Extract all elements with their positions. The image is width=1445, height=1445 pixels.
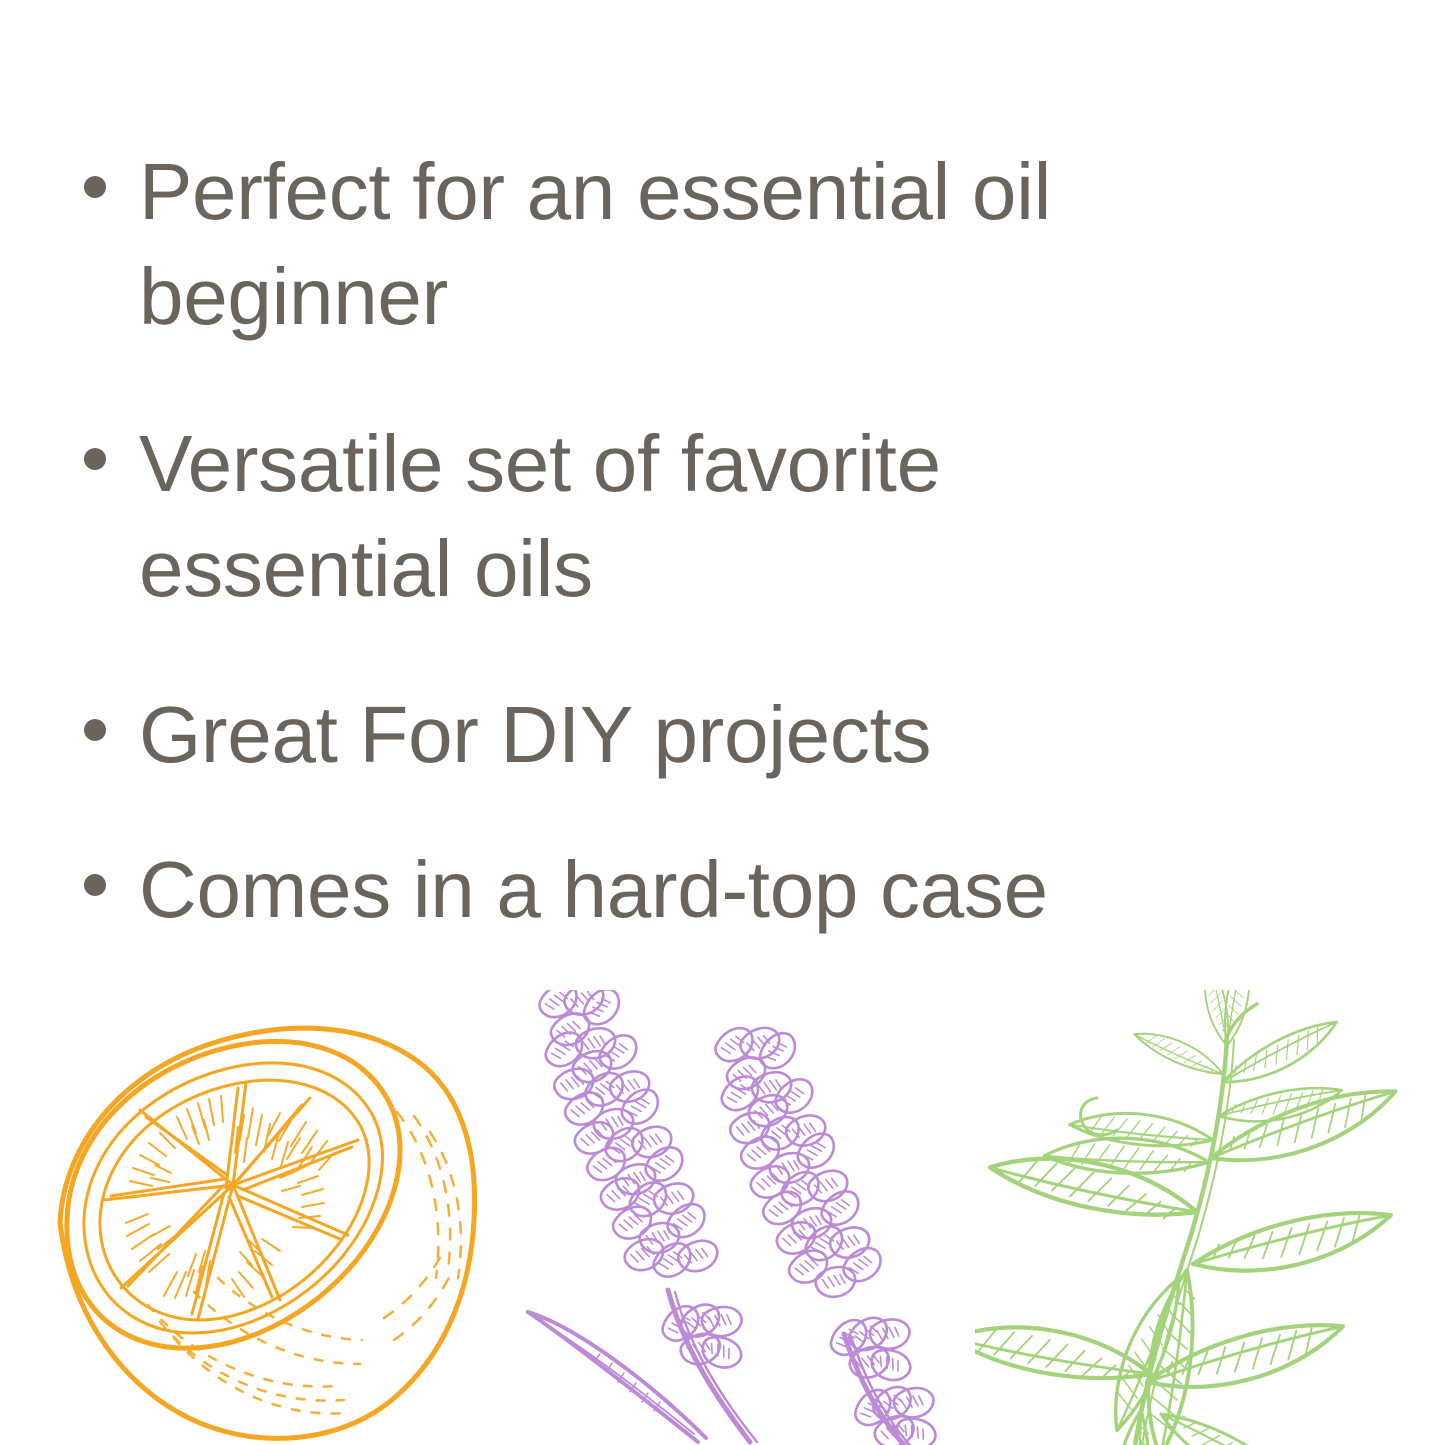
citrus-half-icon — [48, 1020, 488, 1445]
feature-list-item: Versatile set of favorite essential oils — [84, 412, 1224, 622]
botanical-illustration-strip — [0, 990, 1445, 1445]
feature-list-item: Perfect for an essential oil beginner — [84, 140, 1344, 350]
product-feature-card: Perfect for an essential oil beginner Ve… — [0, 0, 1445, 1445]
feature-text: Comes in a hard-top case — [139, 838, 1048, 943]
lavender-sprigs-icon — [522, 990, 952, 1445]
green-herb-leaves-icon — [975, 990, 1445, 1445]
bullet-point-icon — [84, 448, 106, 470]
bullet-point-icon — [84, 874, 106, 896]
feature-list-item: Comes in a hard-top case — [84, 838, 1344, 943]
feature-text: Perfect for an essential oil beginner — [139, 140, 1051, 350]
feature-text: Versatile set of favorite essential oils — [139, 412, 941, 622]
bullet-point-icon — [84, 176, 106, 198]
feature-text: Great For DIY projects — [139, 683, 931, 788]
feature-bullet-list: Perfect for an essential oil beginner Ve… — [0, 0, 1445, 990]
bullet-point-icon — [84, 719, 106, 741]
feature-list-item: Great For DIY projects — [84, 683, 1204, 788]
